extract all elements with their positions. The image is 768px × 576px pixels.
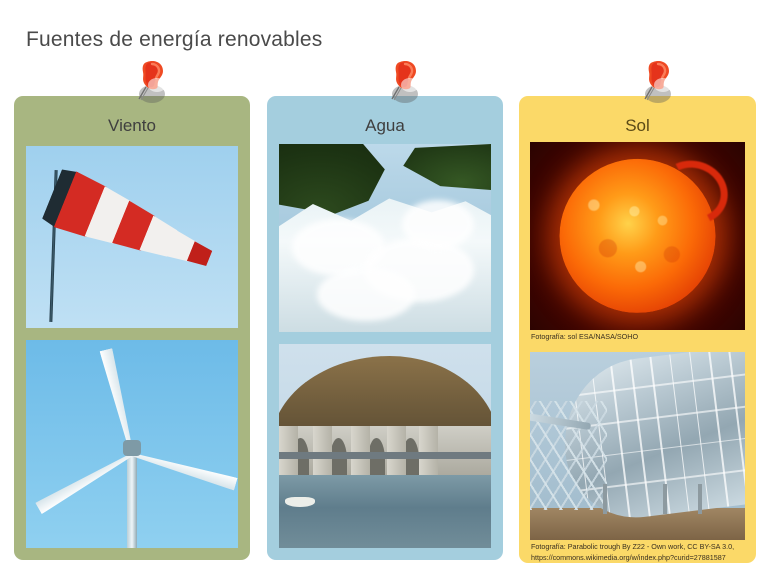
card-title-agua: Agua (267, 116, 503, 136)
pushpin-icon (373, 54, 425, 110)
card-viento[interactable]: Viento (14, 96, 250, 560)
wind-turbine-photo (26, 340, 238, 548)
sun-photo-caption: Fotografía: sol ESA/NASA/SOHO (531, 332, 638, 343)
waterfall-photo (279, 144, 491, 332)
parabolic-trough-photo (530, 352, 745, 540)
reservoir-water (279, 475, 491, 548)
card-title-sol: Sol (519, 116, 756, 136)
card-agua[interactable]: Agua (267, 96, 503, 560)
card-sol[interactable]: Sol Fotografía: sol ESA/NASA/SOHO (519, 96, 756, 563)
turbine-hub (123, 440, 141, 456)
sun-photo (530, 142, 745, 330)
dam-deck (279, 452, 491, 459)
pushpin-icon (626, 54, 678, 110)
dam-photo (279, 344, 491, 548)
windsock-photo (26, 146, 238, 328)
card-title-viento: Viento (14, 116, 250, 136)
pushpin-icon (120, 54, 172, 110)
caption-line-1: Fotografía: Parabolic trough By Z22 - Ow… (531, 542, 734, 553)
caption-line-2: https://commons.wikimedia.org/w/index.ph… (531, 553, 734, 564)
turbine-mast (127, 446, 137, 548)
cards-container: Viento (0, 96, 768, 566)
parabolic-trough-caption: Fotografía: Parabolic trough By Z22 - Ow… (531, 542, 734, 564)
page-title: Fuentes de energía renovables (26, 28, 323, 52)
